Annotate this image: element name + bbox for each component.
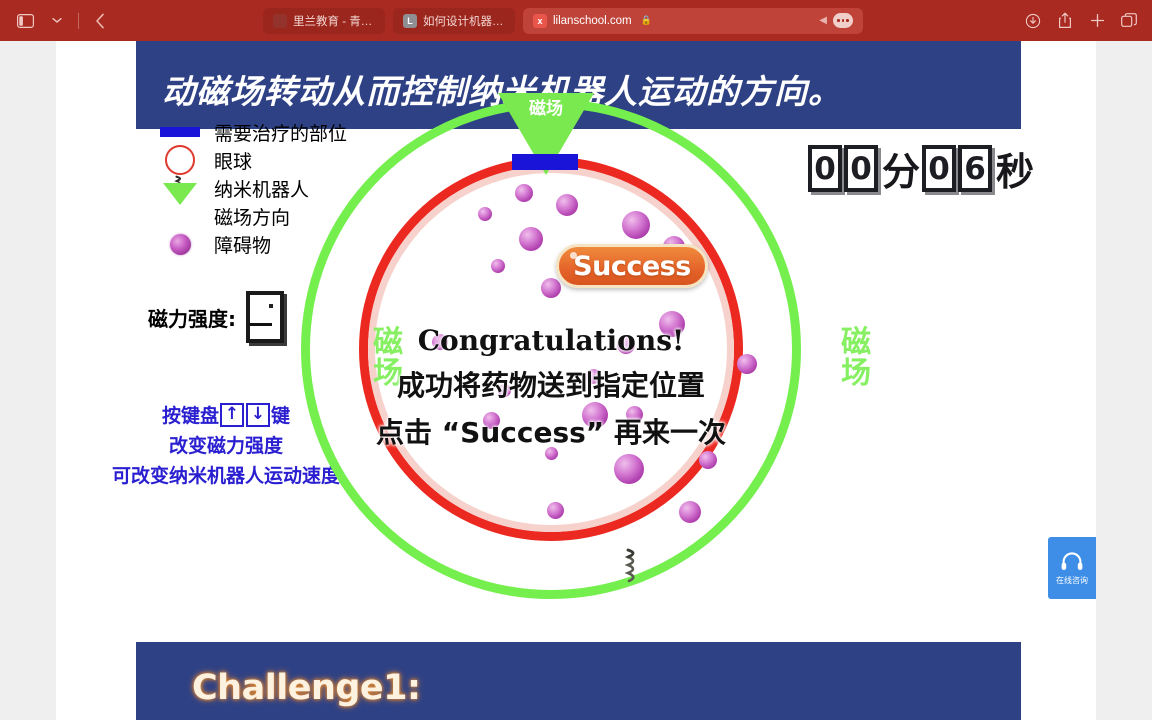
- tab-strip: 里兰教育 - 青少... L 如何设计机器人 (... x lilanschoo…: [263, 8, 863, 34]
- toolbar-left-controls: [0, 8, 115, 34]
- toolbar-divider: [78, 13, 79, 29]
- success-button-label: Success: [573, 251, 691, 282]
- magnetic-strength-meter: [246, 291, 284, 343]
- nanorobot-helix-icon: [623, 548, 643, 584]
- magnetic-field-arrow-icon: 磁场: [498, 93, 594, 189]
- legend-arrow-text: 磁场: [163, 206, 197, 213]
- countdown-timer: 0 0 分 0 6 秒: [808, 141, 1036, 196]
- success-button[interactable]: Success: [556, 244, 708, 288]
- legend-item-label: 障碍物: [214, 231, 271, 258]
- legend-item-label: 磁场方向: [214, 203, 290, 230]
- address-bar[interactable]: x lilanschool.com 🔒 ◀: [523, 8, 863, 34]
- germ-obstacle: [614, 454, 644, 484]
- web-page-viewport: 动磁场转动从而控制纳米机器人运动的方向。 需要治疗的部位 眼球 纳米机器人 磁场: [0, 41, 1152, 720]
- germ-obstacle: [556, 194, 578, 216]
- magnetic-field-label-right: 磁场: [841, 327, 871, 389]
- sidebar-icon[interactable]: [10, 8, 40, 34]
- germ-obstacle: [679, 501, 701, 523]
- address-bar-url: lilanschool.com: [553, 15, 632, 27]
- treatment-target-bar: [512, 154, 578, 170]
- magnetic-field-arrow-icon: 磁场: [152, 205, 208, 227]
- timer-second-digit-1: 0: [922, 145, 956, 192]
- bottom-banner-title: Challenge1:: [192, 668, 421, 708]
- success-message-en: Congratulations!: [301, 324, 801, 357]
- plus-icon[interactable]: [1082, 8, 1112, 34]
- lock-icon: 🔒: [641, 15, 652, 26]
- arrow-down-keycap: ↓: [246, 403, 270, 427]
- tab-favicon-icon: L: [403, 14, 417, 28]
- headset-icon: [1060, 551, 1084, 573]
- legend-item-label: 纳米机器人: [214, 175, 309, 202]
- share-icon[interactable]: [1050, 8, 1080, 34]
- toolbar-right-controls: [1018, 8, 1152, 34]
- germ-icon: [152, 234, 208, 255]
- online-consult-label: 在线咨询: [1056, 575, 1088, 586]
- more-dots-icon[interactable]: [833, 13, 853, 28]
- timer-minutes-unit: 分: [882, 141, 920, 196]
- keyboard-hint-suffix: 键: [271, 401, 290, 428]
- browser-toolbar: 里兰教育 - 青少... L 如何设计机器人 (... x lilanschoo…: [0, 0, 1152, 41]
- success-message-cn-1: 成功将药物送到指定位置: [301, 364, 801, 404]
- game-arena: 磁场 磁场 磁场: [301, 99, 801, 599]
- tab-favicon-icon: [273, 14, 287, 28]
- tab-favicon-icon: x: [533, 14, 547, 28]
- timer-minute-digit-1: 0: [808, 145, 842, 192]
- germ-obstacle: [547, 502, 564, 519]
- back-arrow-icon[interactable]: [85, 8, 115, 34]
- success-message-cn-2: 点击 “Success” 再来一次: [301, 411, 801, 451]
- germ-obstacle: [699, 451, 717, 469]
- browser-tab-1[interactable]: L 如何设计机器人 (...: [393, 8, 515, 34]
- magnetic-field-arrow-label: 磁场: [498, 99, 594, 119]
- timer-seconds-unit: 秒: [996, 141, 1034, 196]
- eyeball-circle-icon: [152, 145, 208, 175]
- arrow-up-keycap: ↑: [220, 403, 244, 427]
- bottom-banner: Challenge1: 设计一个能把药物送到指定位置的纳米机器人: [136, 642, 1021, 720]
- address-bar-actions: ◀: [819, 13, 853, 28]
- germ-obstacle: [478, 207, 492, 221]
- download-icon[interactable]: [1018, 8, 1048, 34]
- browser-tab-0[interactable]: 里兰教育 - 青少...: [263, 8, 385, 34]
- germ-obstacle: [491, 259, 505, 273]
- tab-title: 里兰教育 - 青少...: [293, 13, 375, 29]
- timer-minute-digit-2: 0: [844, 145, 878, 192]
- slide-sheet: 动磁场转动从而控制纳米机器人运动的方向。 需要治疗的部位 眼球 纳米机器人 磁场: [56, 41, 1096, 720]
- tab-title: 如何设计机器人 (...: [423, 13, 505, 29]
- germ-obstacle: [622, 211, 650, 239]
- chevron-down-icon[interactable]: [42, 8, 72, 34]
- keyboard-hint-prefix: 按键盘: [162, 401, 219, 428]
- magnetic-strength-label: 磁力强度:: [148, 303, 236, 332]
- tab-overview-icon[interactable]: [1114, 8, 1144, 34]
- germ-obstacle: [541, 278, 561, 298]
- timer-second-digit-2: 6: [958, 145, 992, 192]
- legend-item-label: 眼球: [214, 147, 252, 174]
- online-consult-widget[interactable]: 在线咨询: [1048, 537, 1096, 599]
- magnetic-strength-indicator: 磁力强度:: [148, 291, 284, 343]
- success-message: Congratulations! 成功将药物送到指定位置 点击 “Success…: [301, 324, 801, 451]
- blue-bar-icon: [152, 127, 208, 137]
- speaker-mute-icon[interactable]: ◀: [819, 15, 827, 26]
- germ-obstacle: [519, 227, 543, 251]
